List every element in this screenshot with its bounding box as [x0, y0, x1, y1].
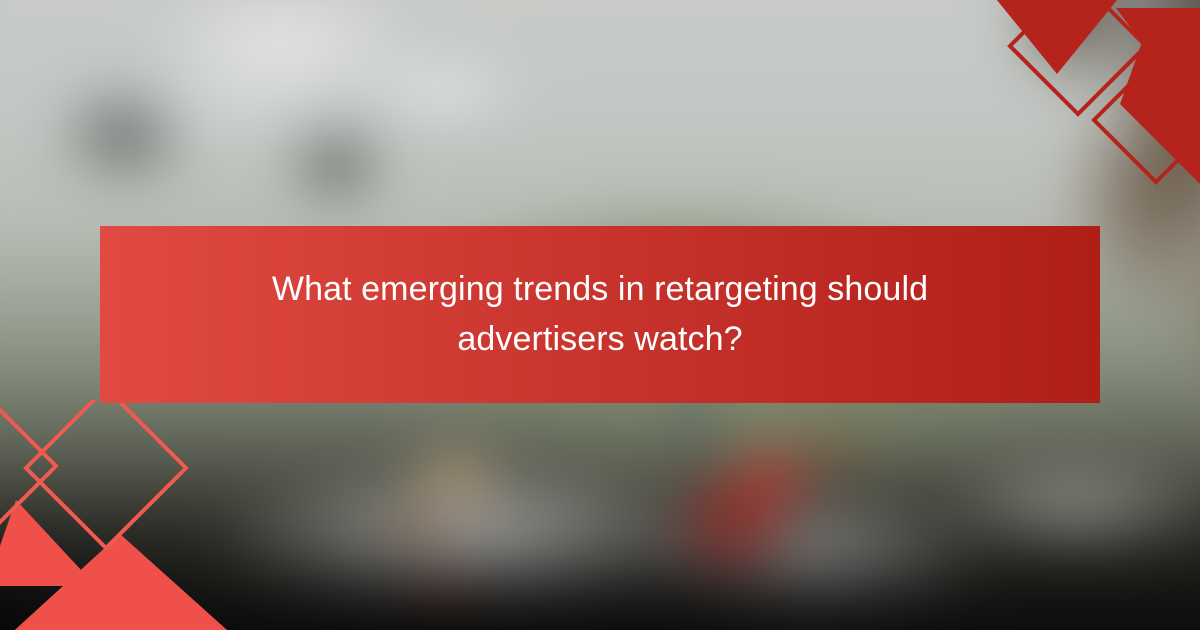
screenshot-canvas: #deco-tr polygon { fill: #B5241C; } #dec…	[0, 0, 1200, 630]
page-title: What emerging trends in retargeting shou…	[272, 265, 928, 364]
title-banner: What emerging trends in retargeting shou…	[100, 226, 1100, 403]
